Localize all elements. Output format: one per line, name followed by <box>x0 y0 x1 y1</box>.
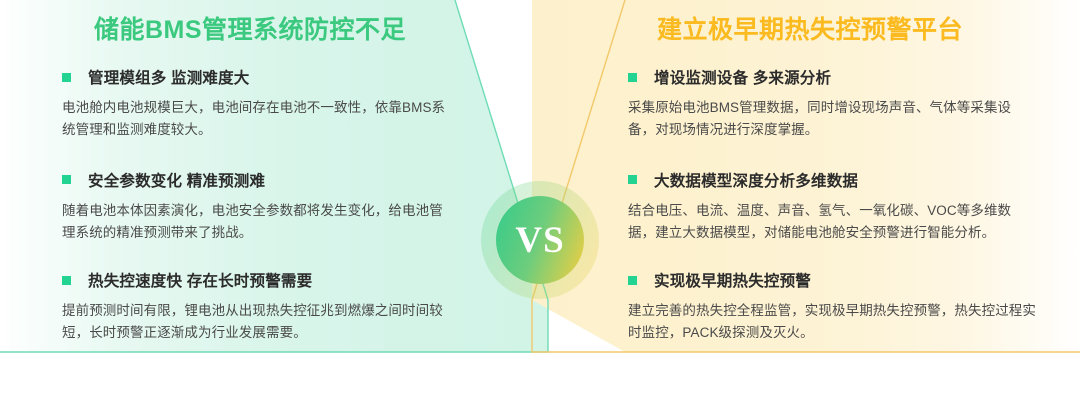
left-block-2-heading: 安全参数变化 精准预测难 <box>88 169 265 191</box>
left-block-1-head: 管理模组多 监测难度大 <box>62 66 452 88</box>
right-block-1: 增设监测设备 多来源分析 采集原始电池BMS管理数据，同时增设现场声音、气体等采… <box>628 66 1036 141</box>
right-panel-title: 建立极早期热失控预警平台 <box>600 10 1020 46</box>
comparison-infographic: 储能BMS管理系统防控不足 建立极早期热失控预警平台 管理模组多 监测难度大 电… <box>0 0 1080 408</box>
right-block-1-heading: 增设监测设备 多来源分析 <box>654 66 831 88</box>
square-bullet-icon <box>62 276 71 285</box>
right-panel-content: 增设监测设备 多来源分析 采集原始电池BMS管理数据，同时增设现场声音、气体等采… <box>628 66 1036 344</box>
right-block-1-head: 增设监测设备 多来源分析 <box>628 66 1036 88</box>
right-block-2-heading: 大数据模型深度分析多维数据 <box>654 169 858 191</box>
square-bullet-icon <box>62 175 71 184</box>
square-bullet-icon <box>628 175 637 184</box>
right-block-2: 大数据模型深度分析多维数据 结合电压、电流、温度、声音、氢气、一氧化碳、VOC等… <box>628 169 1036 244</box>
left-block-2-body: 随着电池本体因素演化，电池安全参数都将发生变化，给电池管理系统的精准预测带来了挑… <box>62 200 452 244</box>
left-panel-content: 管理模组多 监测难度大 电池舱内电池规模巨大，电池间存在电池不一致性，依靠BMS… <box>62 66 452 344</box>
left-block-3-body: 提前预测时间有限，锂电池从出现热失控征兆到燃爆之间时间较短，长时预警正逐渐成为行… <box>62 300 452 344</box>
left-block-3-heading: 热失控速度快 存在长时预警需要 <box>88 269 312 291</box>
left-block-3: 热失控速度快 存在长时预警需要 提前预测时间有限，锂电池从出现热失控征兆到燃爆之… <box>62 269 452 344</box>
left-block-1-body: 电池舱内电池规模巨大，电池间存在电池不一致性，依靠BMS系统管理和监测难度较大。 <box>62 97 452 141</box>
left-panel-title: 储能BMS管理系统防控不足 <box>0 10 500 46</box>
right-block-3-heading: 实现极早期热失控预警 <box>654 269 811 291</box>
left-block-3-head: 热失控速度快 存在长时预警需要 <box>62 269 452 291</box>
vs-badge: VS <box>496 196 584 284</box>
right-block-3: 实现极早期热失控预警 建立完善的热失控全程监管，实现极早期热失控预警，热失控过程… <box>628 269 1036 344</box>
left-block-2-head: 安全参数变化 精准预测难 <box>62 169 452 191</box>
right-block-3-body: 建立完善的热失控全程监管，实现极早期热失控预警，热失控过程实时监控，PACK级探… <box>628 300 1036 344</box>
left-block-1-heading: 管理模组多 监测难度大 <box>88 66 250 88</box>
right-block-2-head: 大数据模型深度分析多维数据 <box>628 169 1036 191</box>
right-block-2-body: 结合电压、电流、温度、声音、氢气、一氧化碳、VOC等多维数据，建立大数据模型，对… <box>628 200 1036 244</box>
left-block-1: 管理模组多 监测难度大 电池舱内电池规模巨大，电池间存在电池不一致性，依靠BMS… <box>62 66 452 141</box>
right-block-1-body: 采集原始电池BMS管理数据，同时增设现场声音、气体等采集设备，对现场情况进行深度… <box>628 97 1036 141</box>
square-bullet-icon <box>628 276 637 285</box>
square-bullet-icon <box>628 73 637 82</box>
left-block-2: 安全参数变化 精准预测难 随着电池本体因素演化，电池安全参数都将发生变化，给电池… <box>62 169 452 244</box>
square-bullet-icon <box>62 73 71 82</box>
right-block-3-head: 实现极早期热失控预警 <box>628 269 1036 291</box>
vs-badge-label: VS <box>515 222 564 259</box>
